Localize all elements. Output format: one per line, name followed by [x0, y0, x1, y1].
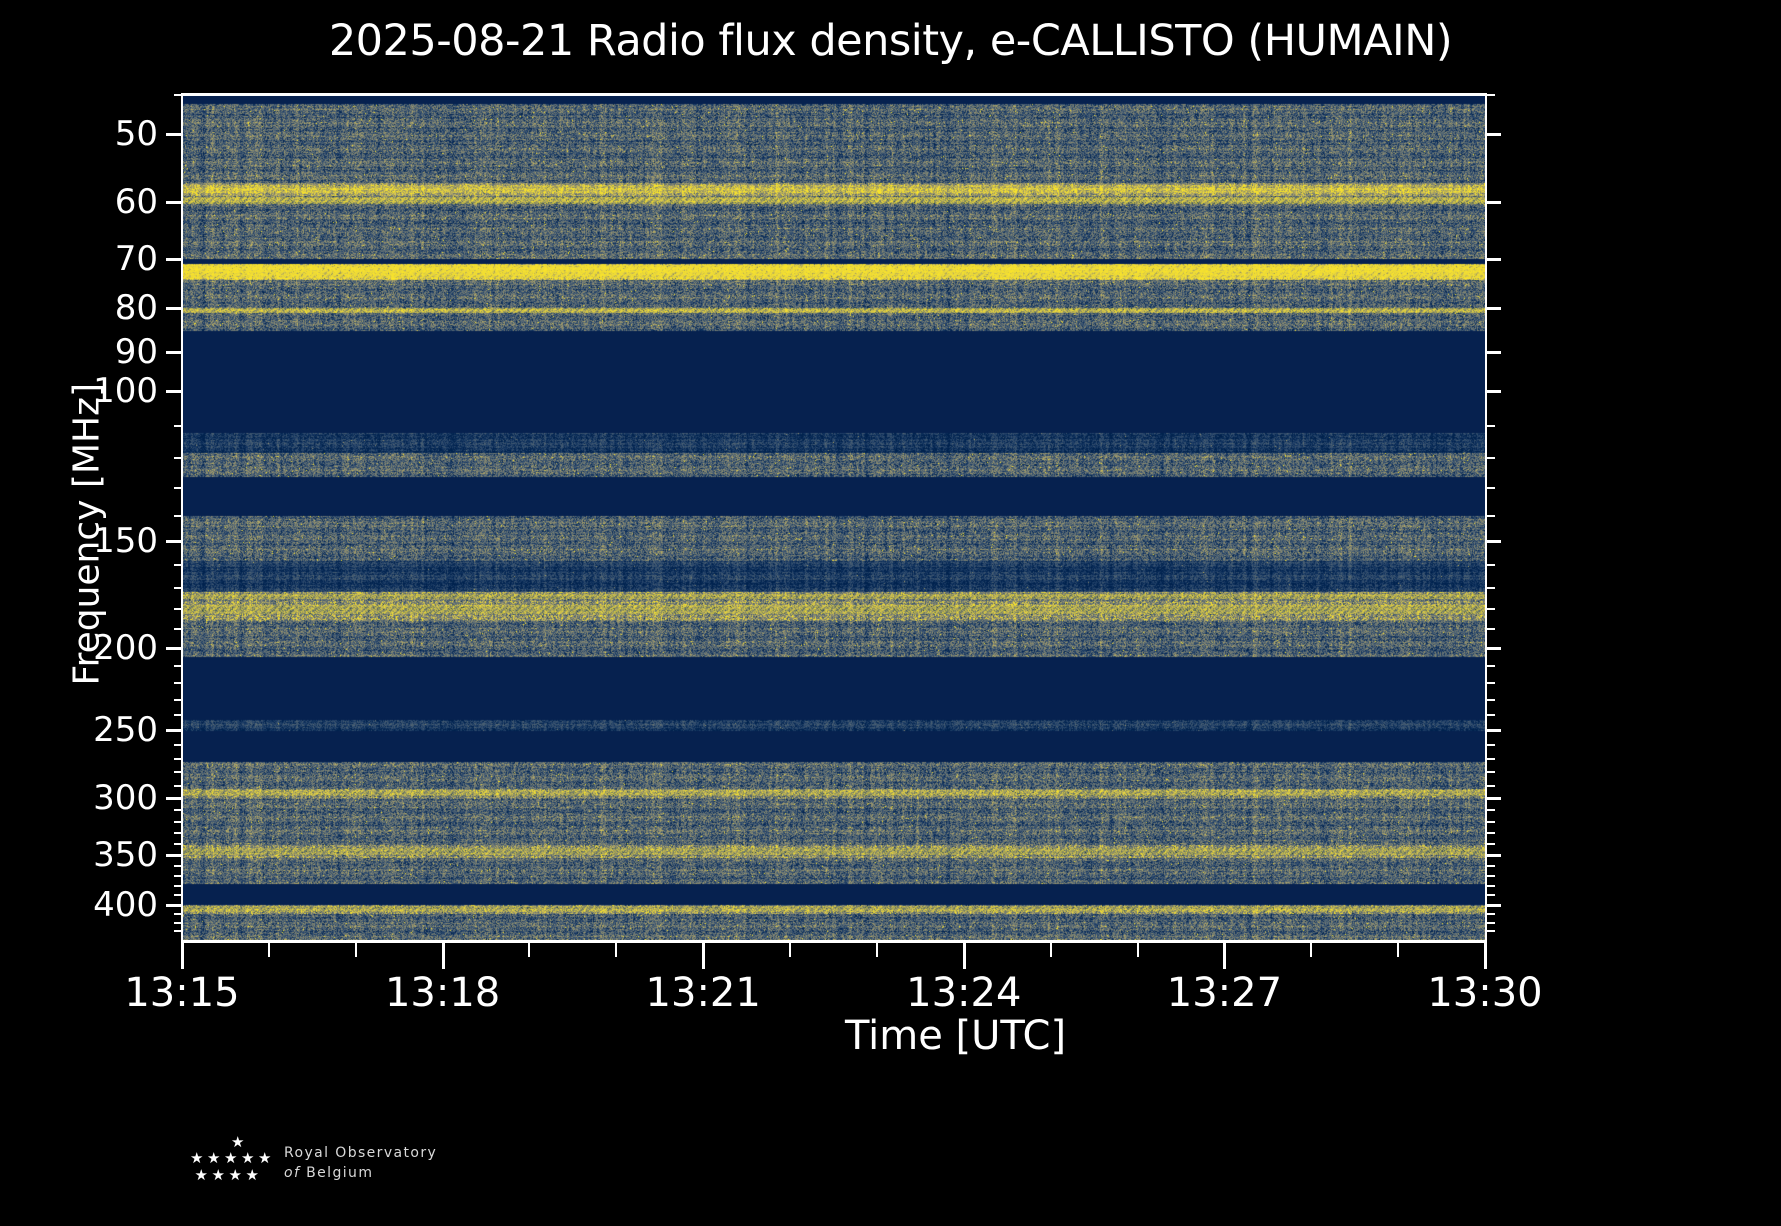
y-minor-tick-left	[174, 785, 182, 787]
y-minor-tick-left	[174, 894, 182, 896]
y-minor-tick-left	[174, 832, 182, 834]
y-minor-tick-left	[174, 94, 182, 96]
y-minor-tick-left	[174, 930, 182, 932]
y-tick-left-200	[166, 647, 182, 650]
y-minor-tick	[1487, 843, 1495, 845]
y-minor-tick	[1487, 564, 1495, 566]
y-tick-label-80: 80	[0, 288, 158, 328]
x-tick-label-1318: 13:18	[385, 970, 500, 1016]
y-tick-label-90: 90	[0, 332, 158, 372]
y-minor-tick	[1487, 894, 1495, 896]
y-minor-tick-left	[174, 809, 182, 811]
y-tick-350	[1487, 854, 1501, 857]
y-minor-tick	[1487, 515, 1495, 517]
x-minor-tick	[1310, 943, 1312, 957]
y-tick-left-100	[166, 390, 182, 393]
y-tick-90	[1487, 351, 1501, 354]
y-minor-tick	[1487, 922, 1495, 924]
figure: 2025-08-21 Radio flux density, e-CALLIST…	[0, 0, 1781, 1226]
logo-star-icon: ★	[229, 1168, 242, 1183]
y-tick-100	[1487, 390, 1501, 393]
y-minor-tick-left	[174, 487, 182, 489]
x-minor-tick	[615, 943, 617, 957]
y-minor-tick-left	[174, 758, 182, 760]
x-tick-1318	[442, 943, 445, 969]
y-tick-150	[1487, 540, 1501, 543]
y-minor-tick-left	[174, 425, 182, 427]
x-minor-tick	[355, 943, 357, 957]
y-tick-label-50: 50	[0, 114, 158, 154]
y-minor-tick	[1487, 714, 1495, 716]
y-minor-tick	[1487, 832, 1495, 834]
logo-star-icon: ★	[241, 1151, 254, 1166]
y-tick-label-300: 300	[0, 778, 158, 818]
y-minor-tick	[1487, 487, 1495, 489]
y-minor-tick-left	[174, 843, 182, 845]
x-tick-1327	[1223, 943, 1226, 969]
logo-line-1: Royal Observatory	[284, 1145, 437, 1161]
x-tick-1324	[963, 943, 966, 969]
y-tick-label-250: 250	[0, 710, 158, 750]
y-tick-left-300	[166, 797, 182, 800]
x-minor-tick	[528, 943, 530, 957]
logo-belgium: Belgium	[306, 1165, 373, 1181]
y-minor-tick-left	[174, 564, 182, 566]
y-minor-tick	[1487, 425, 1495, 427]
y-minor-tick	[1487, 930, 1495, 932]
y-tick-left-50	[166, 133, 182, 136]
y-tick-label-60: 60	[0, 182, 158, 222]
axis-frame-top	[182, 93, 1487, 96]
y-tick-70	[1487, 258, 1501, 261]
y-minor-tick	[1487, 587, 1495, 589]
x-tick-1330	[1484, 943, 1487, 969]
y-minor-tick-left	[174, 587, 182, 589]
y-minor-tick-left	[174, 885, 182, 887]
y-minor-tick	[1487, 744, 1495, 746]
x-minor-tick	[1397, 943, 1399, 957]
y-tick-80	[1487, 307, 1501, 310]
x-minor-tick	[268, 943, 270, 957]
y-tick-left-70	[166, 258, 182, 261]
y-tick-left-60	[166, 201, 182, 204]
y-minor-tick	[1487, 771, 1495, 773]
y-minor-tick-left	[174, 744, 182, 746]
y-minor-tick	[1487, 665, 1495, 667]
logo-star-icon: ★	[231, 1135, 244, 1150]
spectrogram-plot[interactable]	[182, 95, 1485, 940]
y-minor-tick	[1487, 913, 1495, 915]
y-minor-tick-left	[174, 457, 182, 459]
y-tick-label-400: 400	[0, 885, 158, 925]
axis-frame-right	[1485, 93, 1487, 943]
logo-line-2: of Belgium	[284, 1165, 437, 1181]
y-minor-tick-left	[174, 865, 182, 867]
y-tick-250	[1487, 729, 1501, 732]
x-tick-1315	[181, 943, 184, 969]
y-tick-left-400	[166, 904, 182, 907]
x-tick-label-1327: 13:27	[1167, 970, 1282, 1016]
logo-italic-of: of	[284, 1165, 300, 1181]
logo-star-icon: ★	[258, 1151, 271, 1166]
x-tick-label-1321: 13:21	[646, 970, 761, 1016]
x-minor-tick	[1137, 943, 1139, 957]
y-minor-tick-left	[174, 922, 182, 924]
y-minor-tick-left	[174, 515, 182, 517]
logo-star-icon: ★	[224, 1151, 237, 1166]
y-minor-tick	[1487, 457, 1495, 459]
logo-text: Royal Observatory of Belgium	[284, 1145, 437, 1181]
y-tick-label-350: 350	[0, 835, 158, 875]
x-minor-tick	[876, 943, 878, 957]
x-tick-label-1315: 13:15	[124, 970, 239, 1016]
y-minor-tick-left	[174, 665, 182, 667]
page-title: 2025-08-21 Radio flux density, e-CALLIST…	[0, 16, 1781, 66]
y-minor-tick	[1487, 608, 1495, 610]
spectrogram-canvas	[182, 95, 1485, 940]
x-tick-label-1330: 13:30	[1427, 970, 1542, 1016]
y-minor-tick	[1487, 875, 1495, 877]
x-minor-tick	[1050, 943, 1052, 957]
y-minor-tick-left	[174, 714, 182, 716]
y-minor-tick-left	[174, 913, 182, 915]
y-tick-400	[1487, 904, 1501, 907]
y-minor-tick	[1487, 821, 1495, 823]
y-minor-tick	[1487, 94, 1495, 96]
y-axis-label: Frequency [MHz]	[67, 386, 108, 686]
y-tick-60	[1487, 201, 1501, 204]
y-minor-tick	[1487, 885, 1495, 887]
y-minor-tick-left	[174, 771, 182, 773]
y-minor-tick-left	[174, 821, 182, 823]
y-tick-left-90	[166, 351, 182, 354]
logo-star-icon: ★	[190, 1151, 203, 1166]
x-tick-1321	[702, 943, 705, 969]
x-axis-label: Time [UTC]	[0, 1013, 1781, 1059]
royal-observatory-logo: ★★★★★★★★★★ Royal Observatory of Belgium	[176, 1135, 536, 1215]
y-minor-tick	[1487, 785, 1495, 787]
y-tick-label-70: 70	[0, 239, 158, 279]
x-minor-tick	[789, 943, 791, 957]
y-minor-tick-left	[174, 699, 182, 701]
y-tick-left-150	[166, 540, 182, 543]
y-tick-200	[1487, 647, 1501, 650]
y-minor-tick	[1487, 699, 1495, 701]
y-minor-tick	[1487, 758, 1495, 760]
y-tick-300	[1487, 797, 1501, 800]
y-tick-left-350	[166, 854, 182, 857]
y-minor-tick	[1487, 682, 1495, 684]
y-minor-tick	[1487, 865, 1495, 867]
logo-star-icon: ★	[195, 1168, 208, 1183]
y-minor-tick	[1487, 809, 1495, 811]
y-minor-tick-left	[174, 682, 182, 684]
y-tick-left-80	[166, 307, 182, 310]
x-tick-label-1324: 13:24	[906, 970, 1021, 1016]
axis-frame-bottom	[182, 940, 1487, 943]
y-tick-left-250	[166, 729, 182, 732]
y-tick-50	[1487, 133, 1501, 136]
logo-star-icon: ★	[207, 1151, 220, 1166]
y-minor-tick-left	[174, 608, 182, 610]
y-minor-tick	[1487, 628, 1495, 630]
y-minor-tick-left	[174, 875, 182, 877]
axis-frame-left	[181, 93, 183, 943]
y-minor-tick-left	[174, 628, 182, 630]
logo-star-icon: ★	[246, 1168, 259, 1183]
logo-star-icon: ★	[212, 1168, 225, 1183]
